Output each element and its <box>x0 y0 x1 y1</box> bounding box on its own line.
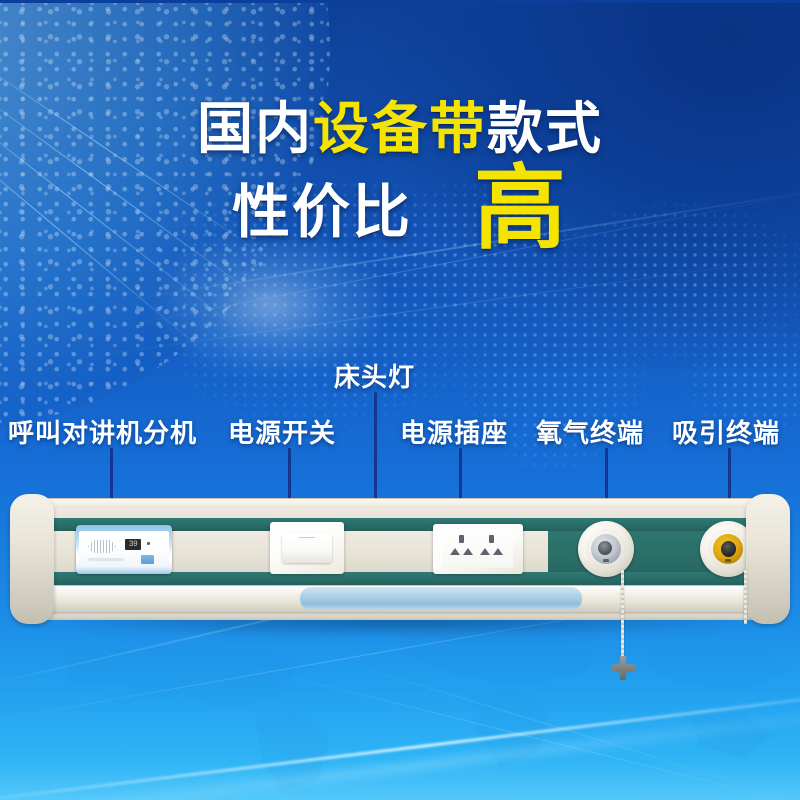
callout-label-intercom: 呼叫对讲机分机 <box>8 413 197 450</box>
callout-label-suction: 吸引终端 <box>672 413 780 450</box>
headline-seg-1: 国内 <box>197 84 313 165</box>
socket-pin-left-icon <box>450 548 460 555</box>
headline-line-1: 国内 设备带 款式 <box>0 84 800 165</box>
socket-inner <box>443 530 513 568</box>
status-led-icon <box>147 542 150 545</box>
socket-pin-right-icon <box>463 548 473 555</box>
intercom-handset-slot <box>88 558 124 561</box>
intercom-display: 39 <box>125 539 141 550</box>
panel-top-lip <box>20 499 780 508</box>
oxygen-marking <box>603 559 609 562</box>
pull-cord-oxygen[interactable] <box>621 570 624 660</box>
nurse-call-intercom[interactable]: 39 <box>76 525 172 574</box>
suction-marking <box>725 559 731 562</box>
promo-banner: 国内 设备带 款式 性价比 高 呼叫对讲机分机 电源开关 床头灯 电源插座 氧气… <box>0 0 800 800</box>
headline-line-2: 性价比 高 <box>0 160 800 249</box>
power-switch[interactable] <box>270 522 344 574</box>
switch-rocker[interactable] <box>282 533 332 563</box>
top-edge-bar <box>0 0 800 3</box>
intercom-call-button[interactable] <box>141 555 154 564</box>
panel-end-cap-left <box>10 494 54 624</box>
pull-cord-suction[interactable] <box>744 570 747 624</box>
socket-pin-top-icon <box>459 535 464 543</box>
callout-label-switch: 电源开关 <box>228 413 336 450</box>
socket-pin-left-icon <box>480 548 490 555</box>
oxygen-terminal[interactable] <box>578 521 634 577</box>
headline-seg-3: 款式 <box>487 84 603 165</box>
headline-value-phrase: 性价比 <box>232 165 412 249</box>
callout-label-socket: 电源插座 <box>400 413 508 450</box>
callout-label-bedlamp: 床头灯 <box>334 357 415 394</box>
headline-seg-2: 设备带 <box>313 84 487 165</box>
oxygen-port-icon <box>598 541 612 555</box>
panel-body: 39 <box>18 498 782 620</box>
suction-port-icon <box>721 541 736 557</box>
socket-pin-right-icon <box>493 548 503 555</box>
callout-label-oxygen: 氧气终端 <box>536 413 644 450</box>
panel-end-cap-right <box>746 494 790 624</box>
intercom-face: 39 <box>79 531 169 567</box>
socket-pin-top-icon <box>489 535 494 543</box>
socket-outlet-right[interactable] <box>479 535 505 561</box>
power-socket[interactable] <box>433 524 523 574</box>
socket-outlet-left[interactable] <box>449 535 475 561</box>
bed-head-unit: 39 <box>18 498 782 638</box>
headline-emphasis-gao: 高 <box>474 168 568 251</box>
panel-rail-blue-insert <box>300 587 582 610</box>
speaker-grille-icon <box>88 540 116 553</box>
